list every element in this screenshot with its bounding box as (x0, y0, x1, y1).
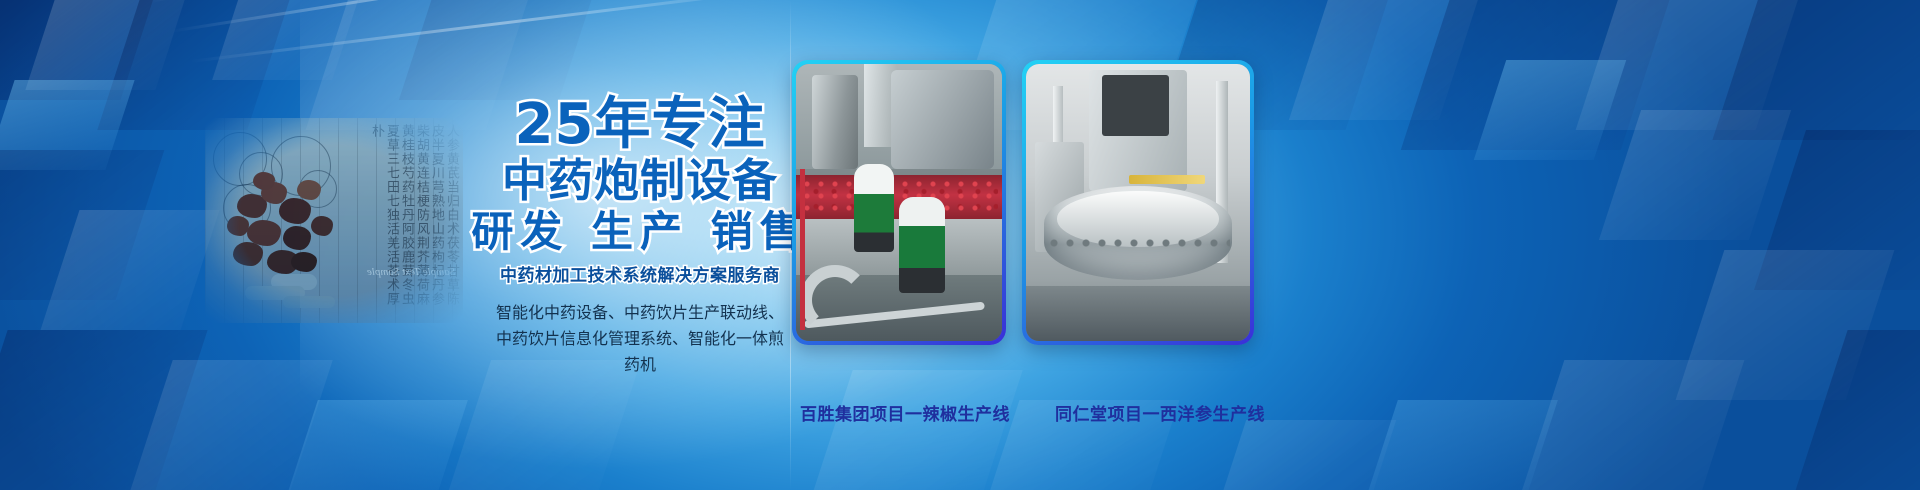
photo-ginseng-production-line (1026, 64, 1250, 341)
headline-line-3: 研发 生产 销售 (470, 207, 810, 257)
headline-block: 25年专注 中药炮制设备 研发 生产 销售 中药材加工技术系统解决方案服务商 智… (470, 95, 810, 378)
headline-subtitle: 中药材加工技术系统解决方案服务商 (470, 261, 810, 286)
headline-line-1: 25年专注 (470, 95, 810, 155)
headline-description: 智能化中药设备、中药饮片生产联动线、中药饮片信息化管理系统、智能化一体煎药机 (490, 300, 790, 378)
watermark-text: Sample Text Sample (367, 265, 455, 279)
caption-photo-1: 百胜集团项目一辣椒生产线 (800, 400, 1010, 425)
herb-collage-image: 人参黄芪当归白术茯苓甘草陈皮半夏川芎熟地山药枸杞丹参柴胡黄连桔梗防风荆芥薄荷麻黄… (205, 118, 463, 323)
caption-photo-2: 同仁堂项目一西洋参生产线 (1055, 400, 1265, 425)
photo-chili-production-line (796, 64, 1002, 341)
photo-card-chili-line[interactable] (792, 60, 1006, 345)
promo-banner: 人参黄芪当归白术茯苓甘草陈皮半夏川芎熟地山药枸杞丹参柴胡黄连桔梗防风荆芥薄荷麻黄… (0, 0, 1920, 490)
headline-line-2: 中药炮制设备 (470, 155, 810, 207)
photo-card-ginseng-line[interactable] (1022, 60, 1254, 345)
